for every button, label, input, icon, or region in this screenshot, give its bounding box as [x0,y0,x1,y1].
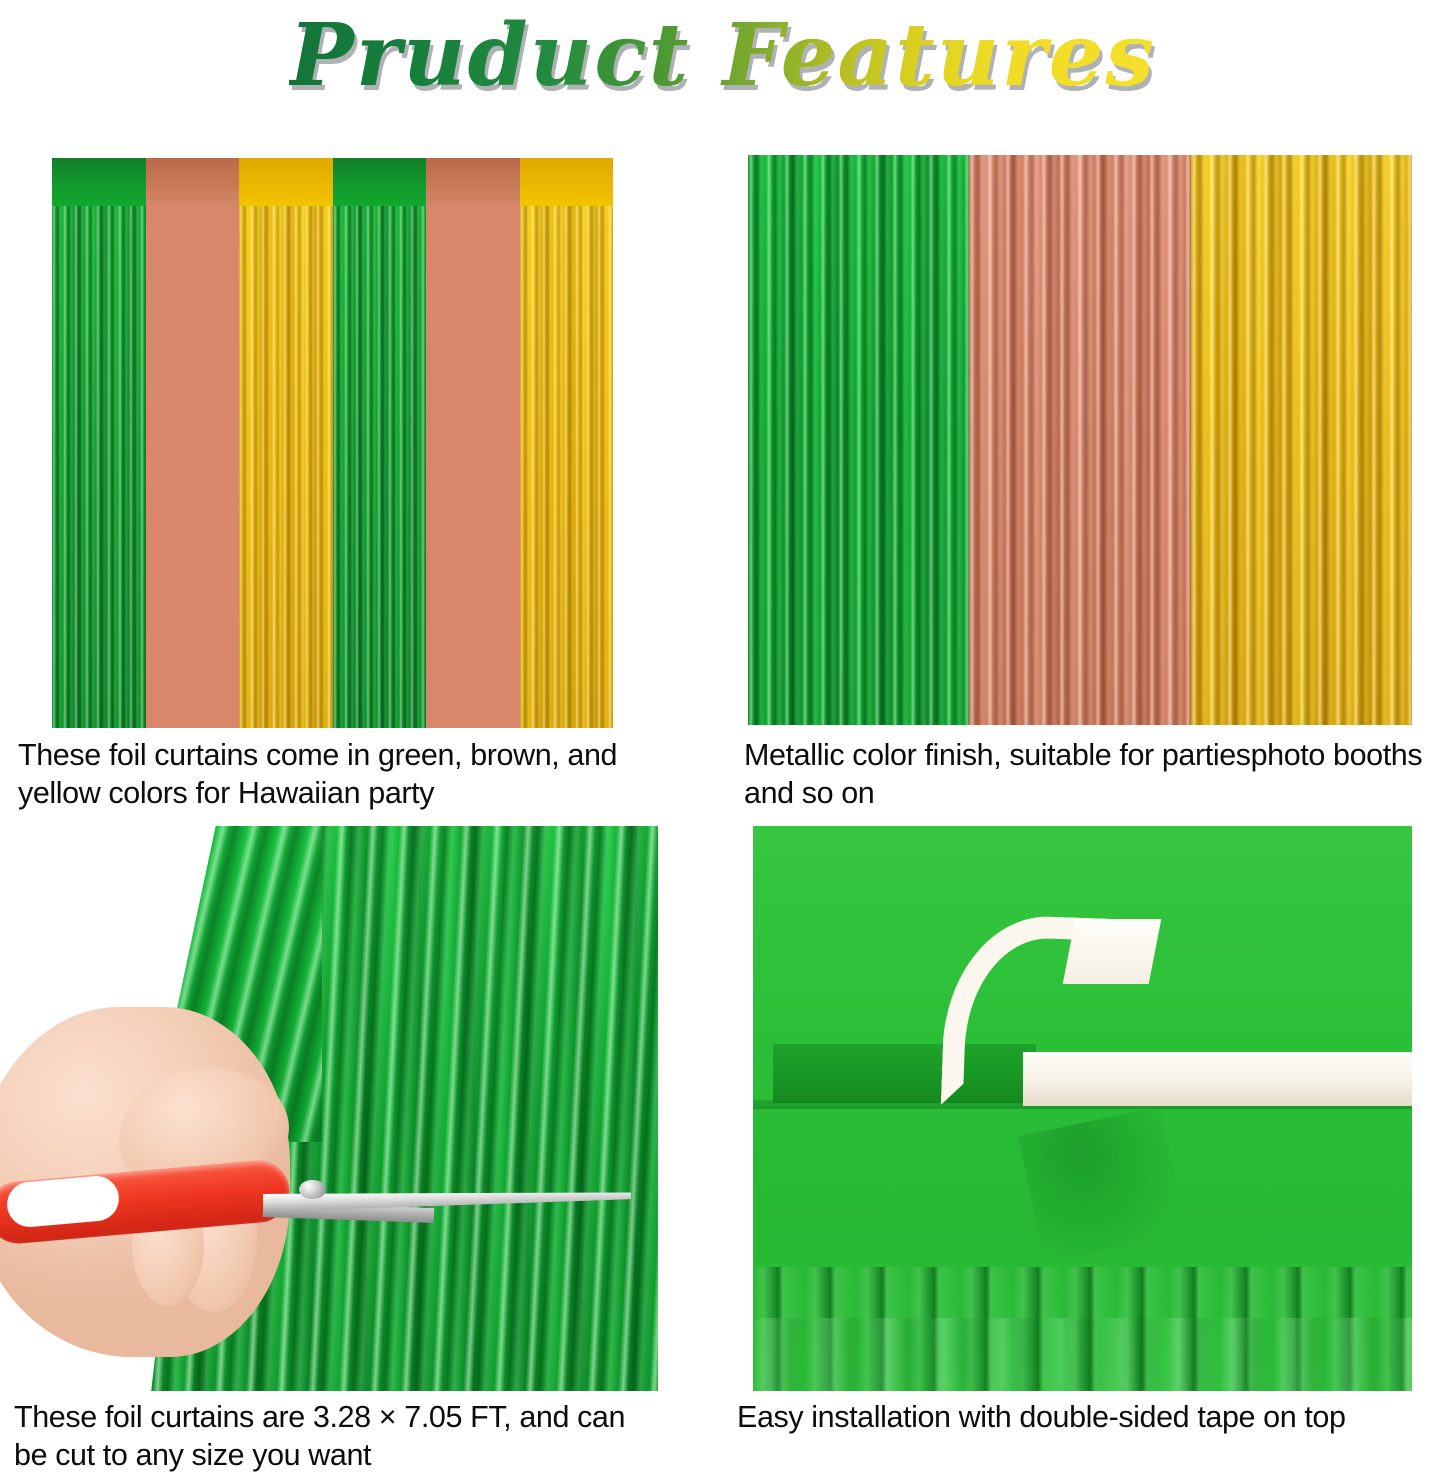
closeup-band-green [748,155,969,725]
caption-colors: These foil curtains come in green, brown… [18,736,663,812]
band-strands [426,206,520,728]
caption-metallic-finish: Metallic color finish, suitable for part… [744,736,1434,812]
band-strands [333,206,427,728]
scissors-pivot-screw [299,1180,325,1199]
curtain-band-green-2 [333,158,427,728]
curtain-band-green-1 [52,158,146,728]
band-strands [52,206,146,728]
band-header [52,158,146,206]
band-header [239,158,333,206]
curtain-band-rose-gold-2 [426,158,520,728]
band-strands [146,206,240,728]
band-header [520,158,614,206]
scissors-cutting-foil-photo [0,826,658,1391]
caption-size: These foil curtains are 3.28 × 7.05 FT, … [14,1398,664,1474]
band-header [333,158,427,206]
double-sided-tape-photo [753,826,1412,1391]
foil-curtain-multicolor-photo [52,158,613,728]
tape-peeled-tail [1063,919,1161,984]
foil-curtain-closeup-photo [748,155,1412,725]
curtain-band-gold-1 [239,158,333,728]
band-strands [239,206,333,728]
closeup-band-gold [1191,155,1412,725]
caption-installation: Easy installation with double-sided tape… [737,1398,1437,1436]
tape-shadow [1018,1106,1187,1263]
band-header [146,158,240,206]
band-strands [520,206,614,728]
curtain-closeup-bands [748,155,1412,725]
curtain-band-rose-gold-1 [146,158,240,728]
page-title: Pruduct Features [289,6,1156,106]
curtain-band-gold-2 [520,158,614,728]
foil-fringe-gloss [753,1318,1412,1391]
page-title-container: Pruduct Features [0,6,1445,111]
product-features-page: Pruduct Features [0,0,1445,1479]
closeup-band-rose-gold [969,155,1190,725]
curtain-bands [52,158,613,728]
band-header [426,158,520,206]
